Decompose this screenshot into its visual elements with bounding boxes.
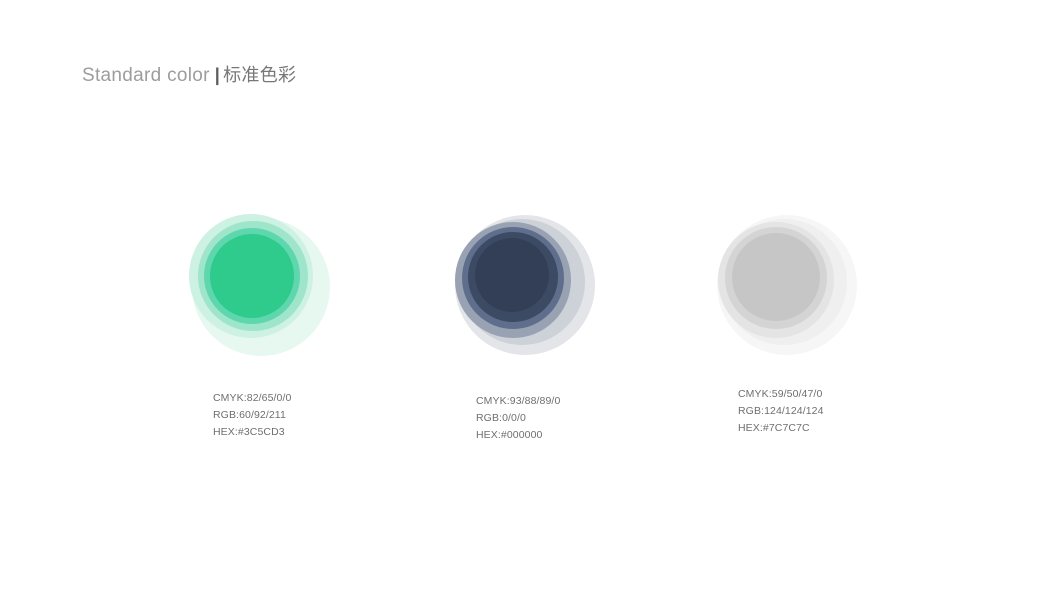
green-ring-core [210, 234, 294, 318]
green-swatch-info: CMYK:82/65/0/0 RGB:60/92/211 HEX:#3C5CD3 [213, 390, 291, 441]
gray-hex-value: HEX:#7C7C7C [738, 420, 824, 437]
navy-concentric-rings [448, 205, 608, 365]
green-concentric-rings [185, 205, 345, 365]
gray-concentric-rings [710, 205, 870, 365]
color-swatch-row: CMYK:82/65/0/0 RGB:60/92/211 HEX:#3C5CD3… [0, 0, 1048, 600]
green-cmyk-value: CMYK:82/65/0/0 [213, 390, 291, 407]
gray-cmyk-value: CMYK:59/50/47/0 [738, 386, 824, 403]
navy-hex-value: HEX:#000000 [476, 427, 560, 444]
gray-ring-core [732, 233, 820, 321]
navy-ring-core [475, 238, 549, 312]
gray-rgb-value: RGB:124/124/124 [738, 403, 824, 420]
navy-cmyk-value: CMYK:93/88/89/0 [476, 393, 560, 410]
navy-swatch-info: CMYK:93/88/89/0 RGB:0/0/0 HEX:#000000 [476, 393, 560, 444]
navy-rgb-value: RGB:0/0/0 [476, 410, 560, 427]
gray-swatch-info: CMYK:59/50/47/0 RGB:124/124/124 HEX:#7C7… [738, 386, 824, 437]
color-swatch-green: CMYK:82/65/0/0 RGB:60/92/211 HEX:#3C5CD3 [185, 205, 385, 365]
green-rgb-value: RGB:60/92/211 [213, 407, 291, 424]
color-swatch-gray: CMYK:59/50/47/0 RGB:124/124/124 HEX:#7C7… [710, 205, 910, 365]
color-swatch-navy: CMYK:93/88/89/0 RGB:0/0/0 HEX:#000000 [448, 205, 648, 365]
green-hex-value: HEX:#3C5CD3 [213, 424, 291, 441]
